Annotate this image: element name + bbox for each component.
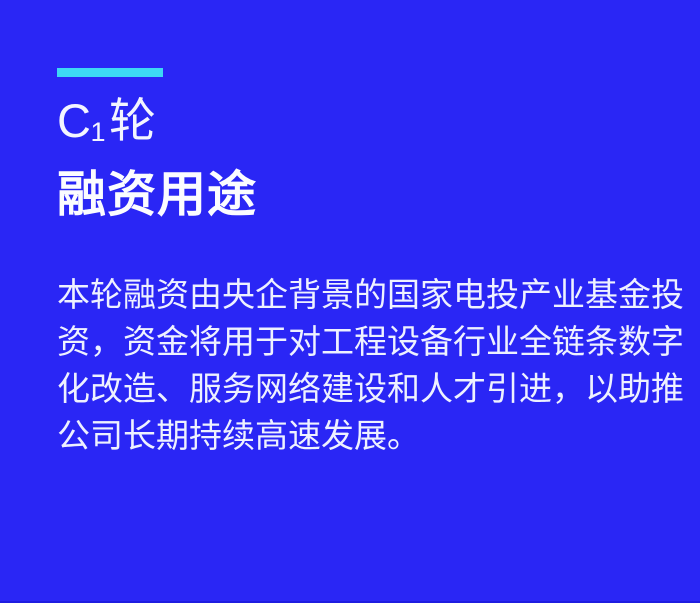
body-line: 资，资金将用于对工程设备行业全链条数字	[57, 318, 645, 365]
body-paragraph: 本轮融资由央企背景的国家电投产业基金投 资，资金将用于对工程设备行业全链条数字 …	[57, 271, 647, 459]
round-number: 1	[90, 117, 106, 147]
body-line: 本轮融资由央企背景的国家电投产业基金投	[57, 271, 645, 318]
body-line: 公司长期持续高速发展。	[57, 412, 647, 459]
round-label: C1轮	[57, 92, 657, 157]
accent-bar	[57, 68, 163, 77]
heading-block: C1轮 融资用途	[57, 92, 657, 223]
round-suffix: 轮	[109, 94, 157, 149]
page-title: 融资用途	[57, 167, 657, 223]
round-letter: C	[57, 94, 91, 147]
body-line: 化改造、服务网络建设和人才引进，以助推	[57, 365, 645, 412]
slide-canvas: C1轮 融资用途 本轮融资由央企背景的国家电投产业基金投 资，资金将用于对工程设…	[0, 0, 700, 603]
